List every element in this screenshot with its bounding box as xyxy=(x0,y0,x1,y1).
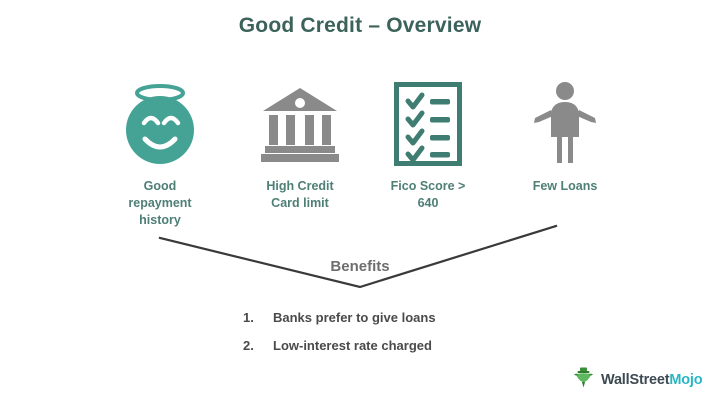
pillar-good-repayment-history: Good repayment history xyxy=(90,78,230,229)
logo-text: WallStreetMojo xyxy=(601,372,702,388)
list-item: 1. Banks prefer to give loans xyxy=(243,310,563,325)
list-item-text: Low-interest rate charged xyxy=(273,338,432,353)
smiley-halo-icon xyxy=(90,78,230,170)
pillar-high-credit-card-limit: High Credit Card limit xyxy=(230,78,370,212)
pillar-fico-score: Fico Score > 640 xyxy=(358,78,498,212)
pillar-few-loans: Few Loans xyxy=(495,78,635,195)
checklist-icon xyxy=(358,78,498,170)
list-item-text: Banks prefer to give loans xyxy=(273,310,436,325)
page-title: Good Credit – Overview xyxy=(0,14,720,38)
wallstreetmojo-logo[interactable]: WallStreetMojo xyxy=(572,366,702,394)
benefits-list: 1. Banks prefer to give loans 2. Low-int… xyxy=(243,310,563,366)
pillar-label: High Credit Card limit xyxy=(230,178,370,212)
list-item-number: 1. xyxy=(243,310,273,325)
wallstreetmojo-bull-icon xyxy=(572,366,595,394)
infographic-canvas: Good Credit – Overview Good repayment hi… xyxy=(0,0,720,403)
list-item: 2. Low-interest rate charged xyxy=(243,338,563,353)
logo-text-primary: WallStreet xyxy=(601,372,669,388)
pillar-label: Good repayment history xyxy=(90,178,230,229)
logo-text-accent: Mojo xyxy=(669,372,702,388)
pillar-label: Few Loans xyxy=(495,178,635,195)
list-item-number: 2. xyxy=(243,338,273,353)
pillar-label: Fico Score > 640 xyxy=(358,178,498,212)
bank-building-icon xyxy=(230,78,370,170)
person-shrug-icon xyxy=(495,78,635,170)
benefits-heading: Benefits xyxy=(0,258,720,275)
